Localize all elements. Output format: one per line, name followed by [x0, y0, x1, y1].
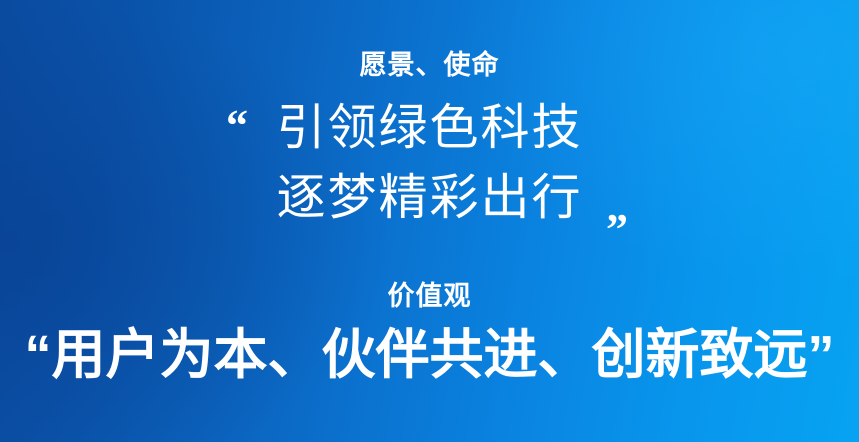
- values-statement: “用户为本、伙伴共进、创新致远”: [0, 327, 859, 384]
- vision-quote-block: “ 引领绿色科技 逐梦精彩出行 ”: [0, 96, 859, 246]
- vision-line-1: 引领绿色科技: [0, 104, 859, 153]
- vision-mission-heading: 愿景、使命: [0, 52, 859, 79]
- vision-line-2: 逐梦精彩出行: [0, 174, 859, 223]
- closing-quote-icon: ”: [606, 208, 628, 252]
- slide-content: 愿景、使命 “ 引领绿色科技 逐梦精彩出行 ” 价值观 “用户为本、伙伴共进、创…: [0, 0, 859, 442]
- values-heading: 价值观: [0, 283, 859, 310]
- vision-mission-values-slide: 愿景、使命 “ 引领绿色科技 逐梦精彩出行 ” 价值观 “用户为本、伙伴共进、创…: [0, 0, 859, 442]
